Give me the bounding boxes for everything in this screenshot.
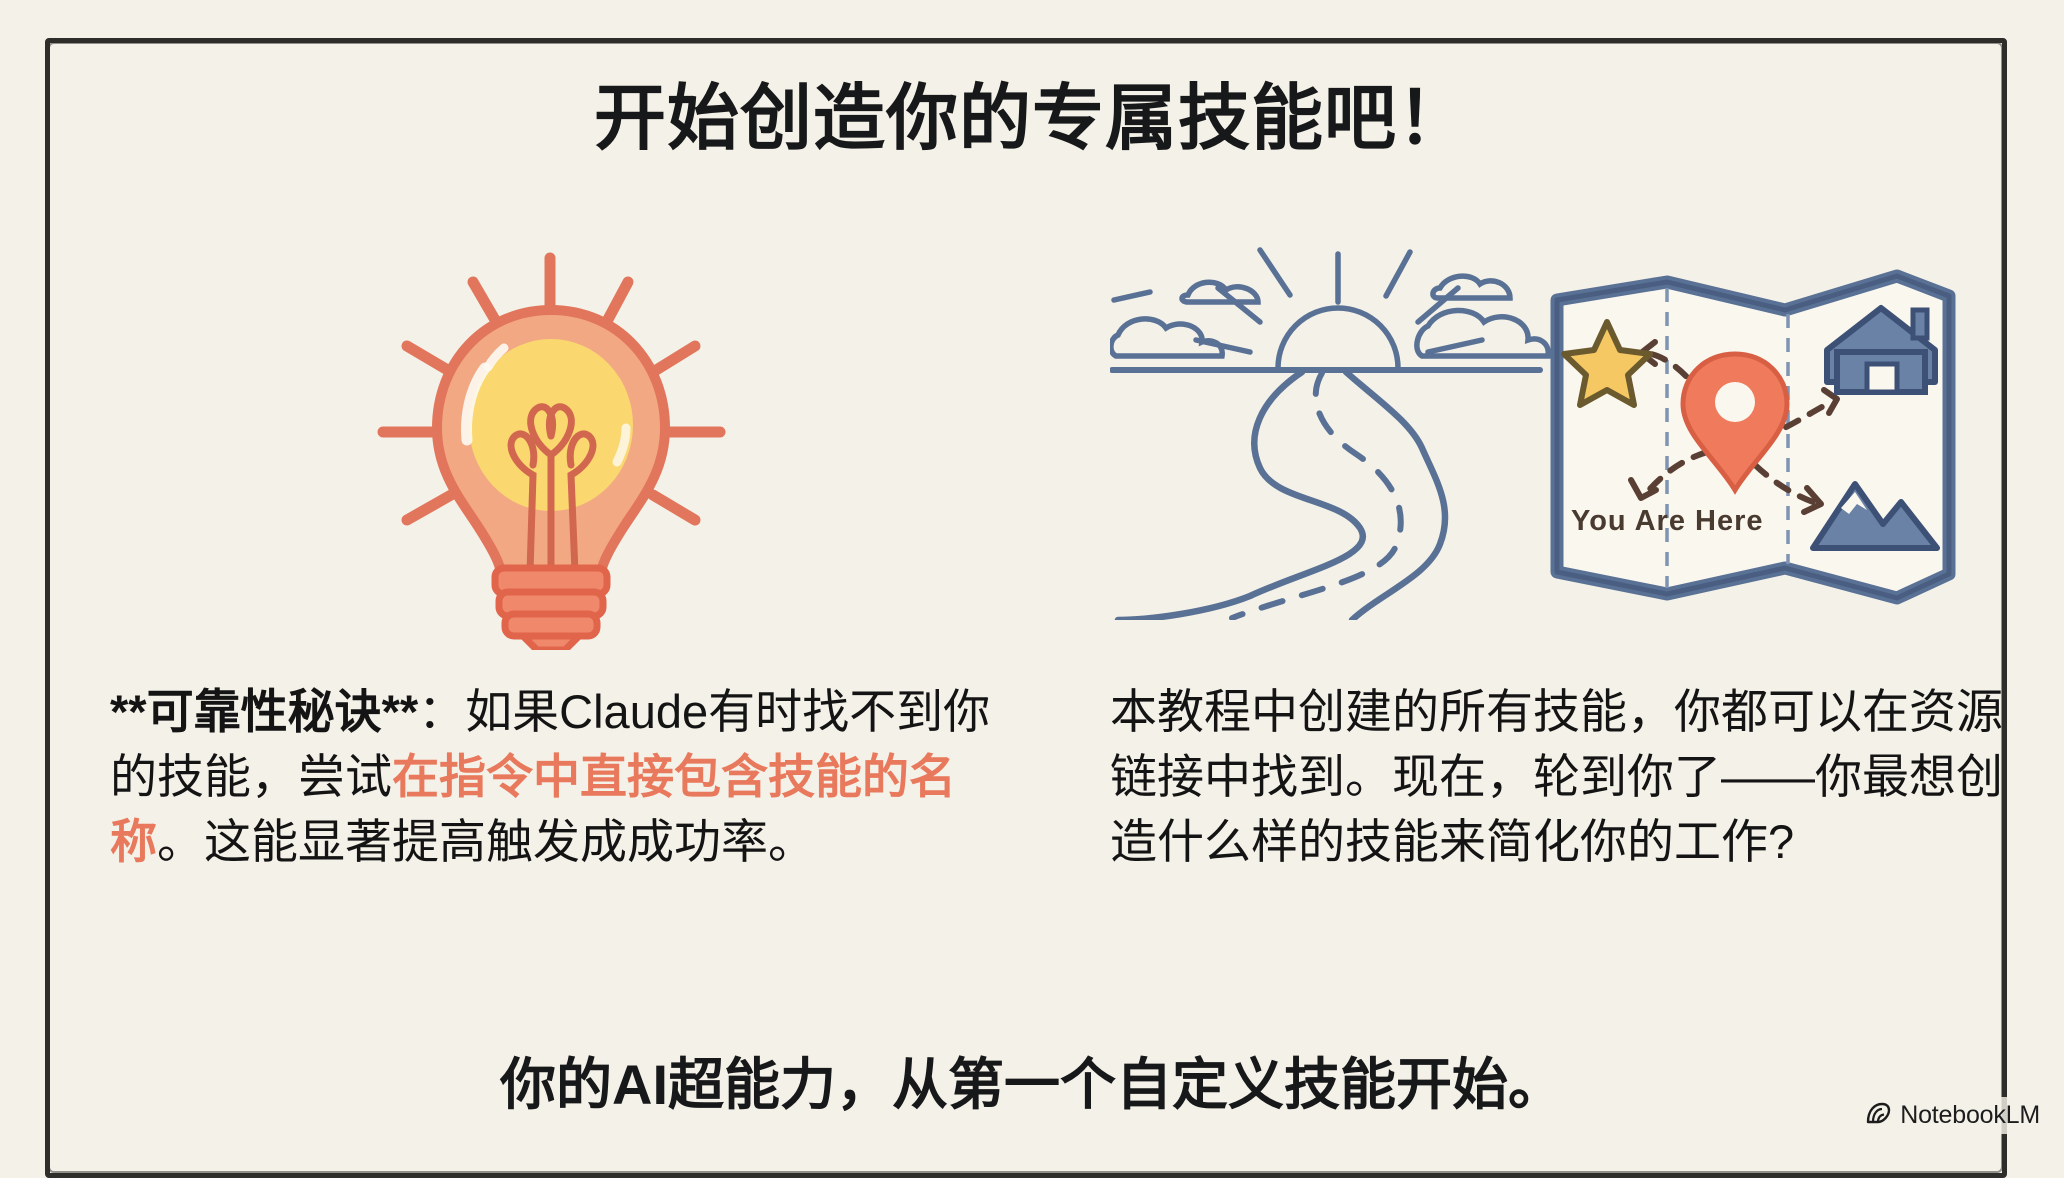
slide-canvas: 开始创造你的专属技能吧！	[0, 0, 2064, 1152]
right-run-normal: 本教程中创建的所有技能，你都可以在资源链接中找到。现在，轮到你了——你最想创造什…	[1110, 685, 2003, 868]
illustration-row: You Are Here You Are Here	[45, 240, 2019, 640]
left-run-bold: **可靠性秘诀**	[110, 685, 418, 738]
right-body-paragraph: 本教程中创建的所有技能，你都可以在资源链接中找到。现在，轮到你了——你最想创造什…	[1110, 680, 2010, 875]
page-title: 开始创造你的专属技能吧！	[0, 80, 2064, 159]
closing-headline: 你的AI超能力，从第一个自定义技能开始。	[0, 1040, 2064, 1121]
notebooklm-arc-icon	[1865, 1101, 1891, 1130]
folded-map-icon: You Are Here You Are Here	[1545, 262, 1965, 612]
sunrise-road-icon	[1110, 240, 1580, 620]
map-caption: You Are Here	[1571, 505, 1764, 537]
left-body-paragraph: **可靠性秘诀**：如果Claude有时找不到你的技能，尝试在指令中直接包含技能…	[110, 680, 1010, 875]
notebooklm-label: NotebookLM	[1900, 1101, 2040, 1130]
left-run-normal-2: 。这能显著提高触发成成功率。	[157, 815, 815, 868]
lightbulb-icon	[365, 250, 785, 650]
notebooklm-watermark: NotebookLM	[1859, 1097, 2046, 1134]
